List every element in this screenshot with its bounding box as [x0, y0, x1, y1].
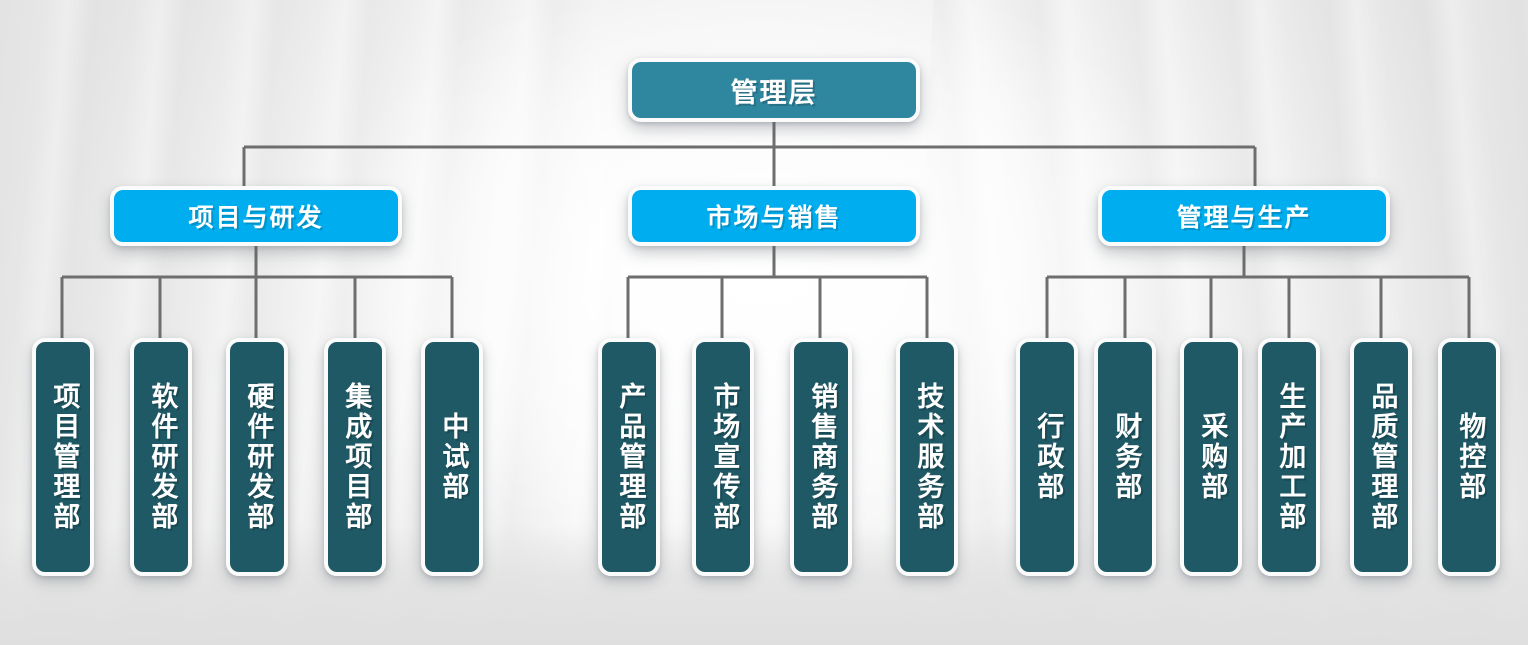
node-department[interactable]: 品质管理部 — [1350, 338, 1412, 576]
node-department-label: 采购部 — [1197, 412, 1226, 502]
node-department-label: 硬件研发部 — [243, 382, 272, 532]
node-department-label: 技术服务部 — [913, 382, 942, 532]
node-department-label: 市场宣传部 — [709, 382, 738, 532]
node-department[interactable]: 市场宣传部 — [692, 338, 754, 576]
node-department-label: 行政部 — [1033, 412, 1062, 502]
node-department-label: 品质管理部 — [1367, 382, 1396, 532]
node-department-label: 生产加工部 — [1275, 382, 1304, 532]
node-department-label: 销售商务部 — [807, 382, 836, 532]
node-division-label: 管理与生产 — [1176, 198, 1311, 234]
node-division-projects-rd[interactable]: 项目与研发 — [110, 186, 402, 246]
node-department[interactable]: 采购部 — [1180, 338, 1242, 576]
node-division-admin-production[interactable]: 管理与生产 — [1098, 186, 1390, 246]
node-division-label: 项目与研发 — [188, 198, 323, 234]
node-department[interactable]: 硬件研发部 — [226, 338, 288, 576]
node-department[interactable]: 软件研发部 — [130, 338, 192, 576]
node-department[interactable]: 生产加工部 — [1258, 338, 1320, 576]
node-department-label: 集成项目部 — [341, 382, 370, 532]
node-root-label: 管理层 — [731, 71, 818, 110]
node-division-marketing-sales[interactable]: 市场与销售 — [628, 186, 920, 246]
node-department-label: 项目管理部 — [49, 382, 78, 532]
node-department[interactable]: 中试部 — [421, 338, 483, 576]
node-department-label: 中试部 — [438, 412, 467, 502]
node-root-management[interactable]: 管理层 — [628, 58, 920, 122]
node-department[interactable]: 行政部 — [1016, 338, 1078, 576]
node-department[interactable]: 技术服务部 — [896, 338, 958, 576]
node-department-label: 产品管理部 — [615, 382, 644, 532]
node-department[interactable]: 集成项目部 — [324, 338, 386, 576]
node-department[interactable]: 物控部 — [1438, 338, 1500, 576]
node-department-label: 软件研发部 — [147, 382, 176, 532]
node-division-label: 市场与销售 — [706, 198, 841, 234]
background-swirl-left — [0, 0, 641, 645]
node-department[interactable]: 销售商务部 — [790, 338, 852, 576]
node-department[interactable]: 项目管理部 — [32, 338, 94, 576]
org-chart-canvas: 管理层 项目与研发 市场与销售 管理与生产 项目管理部 软件研发部 硬件研发部 … — [0, 0, 1528, 645]
node-department-label: 物控部 — [1455, 412, 1484, 502]
node-department[interactable]: 财务部 — [1094, 338, 1156, 576]
node-department-label: 财务部 — [1111, 412, 1140, 502]
node-department[interactable]: 产品管理部 — [598, 338, 660, 576]
